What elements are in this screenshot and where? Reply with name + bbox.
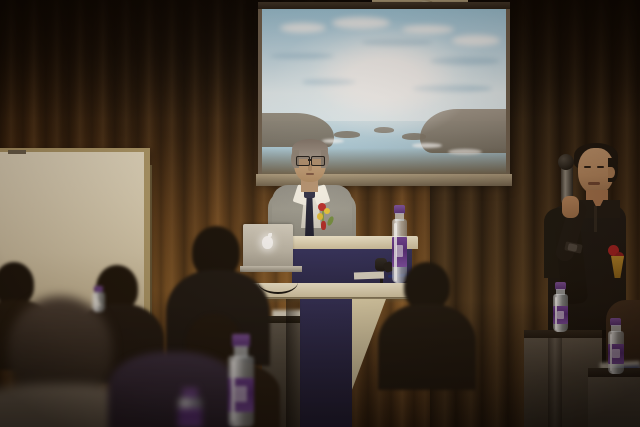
bottle-label-mark	[396, 245, 403, 257]
bottle-body	[92, 292, 105, 312]
bottle-highlight	[610, 334, 612, 371]
table-skirt-fold	[548, 338, 562, 427]
eyeglasses-icon	[296, 156, 310, 166]
conference-room-photo: Conference presentation in a hotel meeti…	[0, 0, 640, 427]
slide-rock	[402, 133, 426, 140]
bottle-highlight	[555, 297, 557, 330]
eyeglasses-bridge	[308, 159, 311, 161]
slide-cloud-streak	[430, 57, 500, 65]
slide-cloud	[332, 17, 390, 29]
slide-cloud-streak	[362, 39, 432, 46]
speaker-mouth	[306, 173, 314, 175]
boutonniere-flower	[324, 208, 330, 214]
whiteboard-clip	[8, 150, 26, 154]
bottle-label	[178, 408, 202, 427]
apple-logo-leaf-icon	[268, 233, 272, 237]
projection-screen-roller	[258, 2, 510, 9]
slide-rock	[374, 127, 394, 133]
podium-shadow	[286, 299, 302, 427]
bottle-highlight	[231, 360, 235, 422]
polo-placket	[594, 206, 597, 232]
attendee-shoulders	[378, 304, 476, 390]
water-bottle	[92, 286, 105, 312]
slide-cloud-streak	[302, 79, 356, 85]
bottle-label-mark	[235, 386, 247, 402]
mic-holder-mouth	[588, 182, 600, 185]
slide-rock	[334, 131, 360, 138]
bottle-label-mark	[557, 311, 564, 319]
water-bottle	[608, 318, 624, 374]
mic-holder-hand	[562, 196, 579, 218]
boutonniere-flower	[317, 213, 323, 220]
eyeglasses-icon	[311, 156, 325, 166]
boutonniere-flower	[321, 221, 326, 230]
microphone-grille-icon	[558, 154, 574, 170]
water-bottle	[392, 205, 407, 283]
laptop-base	[240, 266, 302, 272]
bottle-highlight	[394, 223, 397, 281]
slide-cloud	[452, 35, 500, 46]
bottle-label-mark	[612, 349, 620, 358]
water-bottle	[228, 334, 254, 427]
slide-cloud	[402, 25, 454, 34]
mic-holder-ear	[608, 167, 615, 178]
attendee-head	[404, 262, 450, 310]
slide-cloud-streak	[270, 53, 334, 59]
slide-cloud	[280, 23, 326, 33]
slide-foam	[322, 139, 344, 143]
podium-documents	[354, 271, 384, 279]
slide-cloud-streak	[412, 85, 492, 92]
water-bottle	[553, 282, 568, 332]
podium-column	[300, 299, 352, 427]
water-bottle	[178, 388, 202, 427]
apple-logo-icon	[262, 236, 273, 249]
attendee-shoulders	[108, 352, 238, 427]
table-skirt	[588, 377, 640, 427]
